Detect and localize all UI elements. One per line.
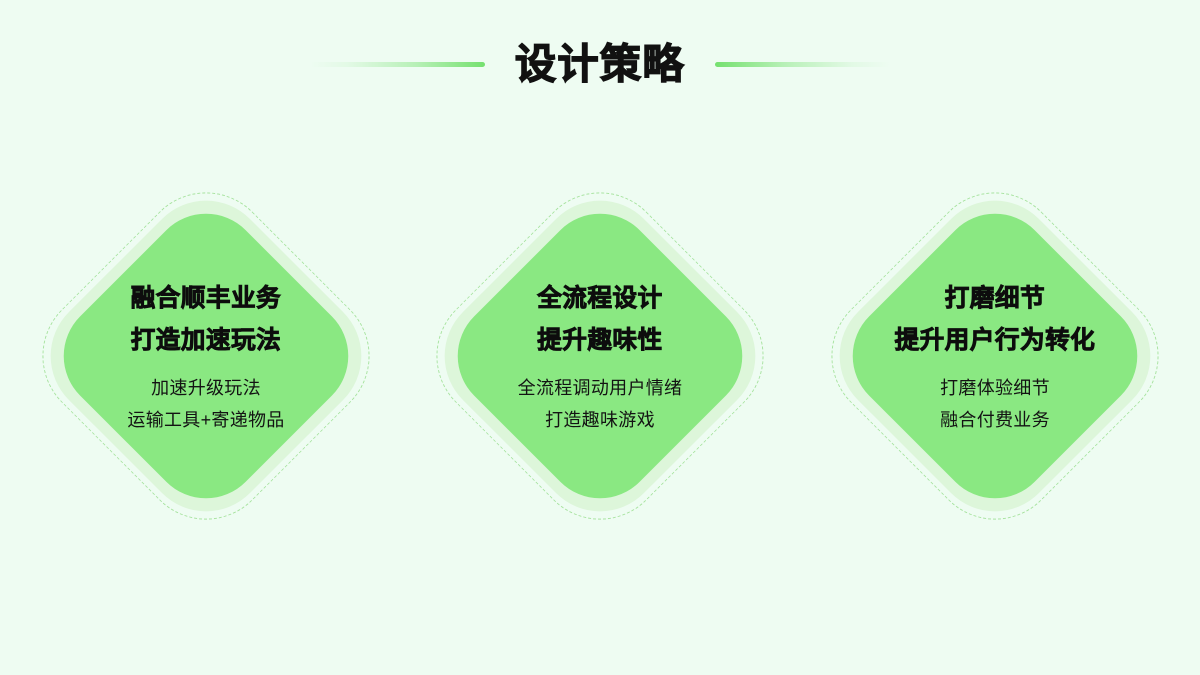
- strategy-card-1[interactable]: 融合顺丰业务 打造加速玩法 加速升级玩法 运输工具+寄递物品: [10, 160, 402, 552]
- strategy-card-3-content: 打磨细节 提升用户行为转化 打磨体验细节 融合付费业务: [799, 160, 1191, 552]
- title-rule-right-icon: [715, 62, 890, 67]
- strategy-card-1-content: 融合顺丰业务 打造加速玩法 加速升级玩法 运输工具+寄递物品: [10, 160, 402, 552]
- strategy-card-2[interactable]: 全流程设计 提升趣味性 全流程调动用户情绪 打造趣味游戏: [404, 160, 796, 552]
- strategy-card-3-heading-line-1: 打磨细节: [895, 278, 1096, 320]
- strategy-card-1-heading: 融合顺丰业务 打造加速玩法: [131, 278, 282, 362]
- strategy-card-3-heading-line-2: 提升用户行为转化: [895, 320, 1096, 362]
- strategy-card-1-heading-line-1: 融合顺丰业务: [131, 278, 282, 320]
- strategy-card-3-body-line-2: 融合付费业务: [940, 404, 1050, 436]
- page-title: 设计策略: [515, 44, 685, 85]
- strategy-card-3[interactable]: 打磨细节 提升用户行为转化 打磨体验细节 融合付费业务: [799, 160, 1191, 552]
- strategy-card-2-heading-line-2: 提升趣味性: [537, 320, 663, 362]
- strategy-card-2-body: 全流程调动用户情绪 打造趣味游戏: [518, 372, 683, 436]
- strategy-card-2-body-line-1: 全流程调动用户情绪: [518, 372, 683, 404]
- strategy-card-1-body: 加速升级玩法 运输工具+寄递物品: [127, 372, 284, 436]
- strategy-card-2-heading-line-1: 全流程设计: [537, 278, 663, 320]
- slide-header: 设计策略: [0, 26, 1200, 102]
- strategy-card-3-body-line-1: 打磨体验细节: [940, 372, 1050, 404]
- slide-root: 设计策略 融合顺丰业务 打造加速玩法 加速升级玩法 运输工具+寄递物品: [0, 0, 1200, 675]
- strategy-card-3-heading: 打磨细节 提升用户行为转化: [895, 278, 1096, 362]
- strategy-card-1-heading-line-2: 打造加速玩法: [131, 320, 282, 362]
- strategy-card-2-heading: 全流程设计 提升趣味性: [537, 278, 663, 362]
- strategy-card-1-body-line-1: 加速升级玩法: [127, 372, 284, 404]
- strategy-card-3-body: 打磨体验细节 融合付费业务: [940, 372, 1050, 436]
- strategy-card-1-body-line-2: 运输工具+寄递物品: [127, 404, 284, 436]
- title-rule-left-icon: [310, 62, 485, 67]
- strategy-card-row: 融合顺丰业务 打造加速玩法 加速升级玩法 运输工具+寄递物品 全流程设计 提升趣…: [0, 160, 1200, 570]
- strategy-card-2-body-line-2: 打造趣味游戏: [518, 404, 683, 436]
- strategy-card-2-content: 全流程设计 提升趣味性 全流程调动用户情绪 打造趣味游戏: [404, 160, 796, 552]
